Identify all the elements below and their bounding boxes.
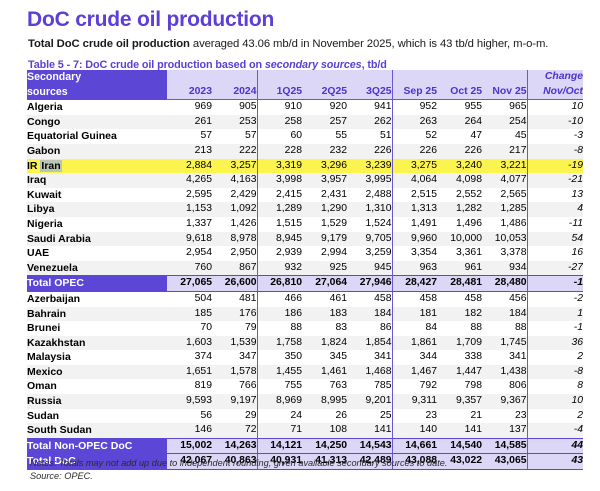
cell-value: 3,296 bbox=[302, 159, 347, 174]
cell-change: 1 bbox=[527, 307, 583, 322]
header-col-sep25: Sep 25 bbox=[392, 85, 437, 100]
cell-value: 45 bbox=[482, 129, 527, 144]
cell-value: 9,593 bbox=[167, 394, 212, 409]
table-header: Secondary sources Change 2023 2024 1Q25 … bbox=[27, 70, 583, 100]
cell-value: 226 bbox=[347, 144, 392, 159]
cell-value: 55 bbox=[302, 129, 347, 144]
cell-value: 1,285 bbox=[482, 202, 527, 217]
row-label: Nigeria bbox=[27, 217, 167, 232]
header-col-2023: 2023 bbox=[167, 85, 212, 100]
cell-value: 88 bbox=[482, 321, 527, 336]
header-col-3q25: 3Q25 bbox=[347, 85, 392, 100]
cell-value: 2,954 bbox=[167, 246, 212, 261]
cell-value: 184 bbox=[482, 307, 527, 322]
cell-value: 3,378 bbox=[482, 246, 527, 261]
cell-change: -11 bbox=[527, 217, 583, 232]
cell-value: 1,289 bbox=[257, 202, 302, 217]
cell-value: 57 bbox=[167, 129, 212, 144]
row-label: Saudi Arabia bbox=[27, 232, 167, 247]
cell-value: 1,515 bbox=[257, 217, 302, 232]
header-col-nov25: Nov 25 bbox=[482, 85, 527, 100]
cell-change: -8 bbox=[527, 144, 583, 159]
cell-value: 8,945 bbox=[257, 232, 302, 247]
cell-value: 264 bbox=[437, 115, 482, 130]
cell-value: 52 bbox=[392, 129, 437, 144]
cell-value: 83 bbox=[302, 321, 347, 336]
summary-text: Total DoC crude oil production averaged … bbox=[28, 38, 548, 50]
cell-value: 819 bbox=[167, 379, 212, 394]
cell-value: 504 bbox=[167, 291, 212, 306]
cell-value: 262 bbox=[347, 115, 392, 130]
cell-value: 3,995 bbox=[347, 173, 392, 188]
cell-change: 43 bbox=[527, 454, 583, 470]
cell-value: 456 bbox=[482, 291, 527, 306]
cell-value: 347 bbox=[212, 350, 257, 365]
cell-value: 137 bbox=[482, 423, 527, 438]
cell-value: 3,257 bbox=[212, 159, 257, 174]
cell-value: 71 bbox=[257, 423, 302, 438]
cell-value: 9,179 bbox=[302, 232, 347, 247]
row-label: UAE bbox=[27, 246, 167, 261]
cell-value: 792 bbox=[392, 379, 437, 394]
cell-value: 183 bbox=[302, 307, 347, 322]
cell-value: 2,994 bbox=[302, 246, 347, 261]
doc-production-table: Secondary sources Change 2023 2024 1Q25 … bbox=[27, 70, 583, 470]
cell-value: 1,491 bbox=[392, 217, 437, 232]
cell-value: 24 bbox=[257, 409, 302, 424]
cell-value: 14,585 bbox=[482, 438, 527, 454]
cell-value: 21 bbox=[437, 409, 482, 424]
table-row: Sudan56292426252321232 bbox=[27, 409, 583, 424]
cell-change: 8 bbox=[527, 379, 583, 394]
page-title: DoC crude oil production bbox=[27, 8, 274, 32]
cell-value: 141 bbox=[437, 423, 482, 438]
header-blank-2024 bbox=[212, 70, 257, 85]
cell-value: 1,313 bbox=[392, 202, 437, 217]
cell-value: 14,250 bbox=[302, 438, 347, 454]
cell-value: 481 bbox=[212, 291, 257, 306]
cell-value: 1,824 bbox=[302, 336, 347, 351]
row-label: Brunei bbox=[27, 321, 167, 336]
table-body: Algeria96990591092094195295596510Congo26… bbox=[27, 100, 583, 470]
cell-value: 8,969 bbox=[257, 394, 302, 409]
cell-value: 969 bbox=[167, 100, 212, 115]
row-label: Azerbaijan bbox=[27, 291, 167, 306]
cell-change: 13 bbox=[527, 188, 583, 203]
cell-value: 1,578 bbox=[212, 365, 257, 380]
table-row: Equatorial Guinea5757605551524745-3 bbox=[27, 129, 583, 144]
cell-value: 263 bbox=[392, 115, 437, 130]
cell-value: 4,064 bbox=[392, 173, 437, 188]
row-label: Kazakhstan bbox=[27, 336, 167, 351]
row-label: Bahrain bbox=[27, 307, 167, 322]
cell-value: 70 bbox=[167, 321, 212, 336]
cell-value: 2,595 bbox=[167, 188, 212, 203]
cell-value: 9,960 bbox=[392, 232, 437, 247]
cell-value: 3,240 bbox=[437, 159, 482, 174]
header-blank-sep25 bbox=[392, 70, 437, 85]
cell-change: -21 bbox=[527, 173, 583, 188]
cell-value: 920 bbox=[302, 100, 347, 115]
cell-value: 932 bbox=[257, 261, 302, 276]
cell-value: 185 bbox=[167, 307, 212, 322]
cell-value: 1,758 bbox=[257, 336, 302, 351]
cell-value: 3,354 bbox=[392, 246, 437, 261]
table-source: Source: OPEC. bbox=[30, 471, 93, 481]
summary-bold: Total DoC crude oil production bbox=[28, 38, 190, 50]
cell-value: 232 bbox=[302, 144, 347, 159]
cell-value: 1,455 bbox=[257, 365, 302, 380]
cell-value: 8,978 bbox=[212, 232, 257, 247]
cell-value: 934 bbox=[482, 261, 527, 276]
cell-change: 44 bbox=[527, 438, 583, 454]
cell-value: 9,201 bbox=[347, 394, 392, 409]
cell-value: 2,884 bbox=[167, 159, 212, 174]
cell-change: -2 bbox=[527, 291, 583, 306]
header-secondary-sources: Secondary sources bbox=[27, 70, 167, 100]
cell-value: 925 bbox=[302, 261, 347, 276]
cell-value: 963 bbox=[392, 261, 437, 276]
cell-value: 27,065 bbox=[167, 276, 212, 292]
row-label: Kuwait bbox=[27, 188, 167, 203]
cell-value: 51 bbox=[347, 129, 392, 144]
cell-value: 2,565 bbox=[482, 188, 527, 203]
cell-value: 1,709 bbox=[437, 336, 482, 351]
cell-value: 3,259 bbox=[347, 246, 392, 261]
cell-value: 458 bbox=[347, 291, 392, 306]
report-page: DoC crude oil production Total DoC crude… bbox=[0, 0, 600, 491]
cell-value: 4,077 bbox=[482, 173, 527, 188]
cell-value: 14,121 bbox=[257, 438, 302, 454]
cell-value: 14,543 bbox=[347, 438, 392, 454]
cell-change: 2 bbox=[527, 409, 583, 424]
cell-value: 253 bbox=[212, 115, 257, 130]
cell-value: 84 bbox=[392, 321, 437, 336]
header-col-2q25: 2Q25 bbox=[302, 85, 347, 100]
cell-change: -4 bbox=[527, 423, 583, 438]
cell-value: 867 bbox=[212, 261, 257, 276]
cell-value: 29 bbox=[212, 409, 257, 424]
cell-value: 941 bbox=[347, 100, 392, 115]
table-row: Algeria96990591092094195295596510 bbox=[27, 100, 583, 115]
cell-value: 27,946 bbox=[347, 276, 392, 292]
header-col-2024: 2024 bbox=[212, 85, 257, 100]
cell-value: 4,098 bbox=[437, 173, 482, 188]
cell-value: 186 bbox=[257, 307, 302, 322]
cell-value: 146 bbox=[167, 423, 212, 438]
cell-value: 23 bbox=[392, 409, 437, 424]
cell-value: 2,950 bbox=[212, 246, 257, 261]
cell-value: 88 bbox=[257, 321, 302, 336]
cell-value: 798 bbox=[437, 379, 482, 394]
cell-value: 10,053 bbox=[482, 232, 527, 247]
cell-value: 1,467 bbox=[392, 365, 437, 380]
cell-value: 910 bbox=[257, 100, 302, 115]
table-total-row: Total Non-OPEC DoC15,00214,26314,12114,2… bbox=[27, 438, 583, 454]
cell-value: 226 bbox=[437, 144, 482, 159]
cell-value: 806 bbox=[482, 379, 527, 394]
cell-value: 1,854 bbox=[347, 336, 392, 351]
row-label-prefix: IR bbox=[27, 160, 40, 172]
table-row: Congo261253258257262263264254-10 bbox=[27, 115, 583, 130]
cell-value: 213 bbox=[167, 144, 212, 159]
cell-value: 47 bbox=[437, 129, 482, 144]
cell-value: 9,197 bbox=[212, 394, 257, 409]
cell-value: 344 bbox=[392, 350, 437, 365]
row-label: Libya bbox=[27, 202, 167, 217]
cell-value: 3,239 bbox=[347, 159, 392, 174]
cell-value: 3,275 bbox=[392, 159, 437, 174]
row-label: Algeria bbox=[27, 100, 167, 115]
cell-value: 3,998 bbox=[257, 173, 302, 188]
cell-value: 88 bbox=[437, 321, 482, 336]
cell-value: 1,153 bbox=[167, 202, 212, 217]
cell-value: 10,000 bbox=[437, 232, 482, 247]
cell-change: -1 bbox=[527, 276, 583, 292]
row-label: IR Iran bbox=[27, 159, 167, 174]
cell-value: 182 bbox=[437, 307, 482, 322]
cell-value: 458 bbox=[392, 291, 437, 306]
row-label-selection: Iran bbox=[40, 160, 61, 172]
cell-value: 3,361 bbox=[437, 246, 482, 261]
cell-change: -19 bbox=[527, 159, 583, 174]
cell-value: 905 bbox=[212, 100, 257, 115]
cell-value: 350 bbox=[257, 350, 302, 365]
cell-value: 374 bbox=[167, 350, 212, 365]
row-label: Venezuela bbox=[27, 261, 167, 276]
table-row: Oman8197667557637857927988068 bbox=[27, 379, 583, 394]
cell-value: 458 bbox=[437, 291, 482, 306]
header-label-line1: Secondary bbox=[27, 70, 167, 85]
cell-value: 1,496 bbox=[437, 217, 482, 232]
cell-value: 176 bbox=[212, 307, 257, 322]
row-label: Total OPEC bbox=[27, 276, 167, 292]
summary-rest: averaged 43.06 mb/d in November 2025, wh… bbox=[190, 38, 548, 50]
cell-value: 466 bbox=[257, 291, 302, 306]
row-label: Equatorial Guinea bbox=[27, 129, 167, 144]
cell-change: 36 bbox=[527, 336, 583, 351]
row-label: Sudan bbox=[27, 409, 167, 424]
header-change-line1: Change bbox=[527, 70, 583, 85]
cell-change: -8 bbox=[527, 365, 583, 380]
table-row: Azerbaijan504481466461458458458456-2 bbox=[27, 291, 583, 306]
cell-value: 955 bbox=[437, 100, 482, 115]
table-row: Malaysia3743473503453413443383412 bbox=[27, 350, 583, 365]
table-row: Mexico1,6511,5781,4551,4611,4681,4671,44… bbox=[27, 365, 583, 380]
cell-value: 345 bbox=[302, 350, 347, 365]
cell-change: 10 bbox=[527, 100, 583, 115]
cell-value: 27,064 bbox=[302, 276, 347, 292]
cell-value: 86 bbox=[347, 321, 392, 336]
cell-value: 1,651 bbox=[167, 365, 212, 380]
cell-value: 952 bbox=[392, 100, 437, 115]
table-row: Brunei7079888386848888-1 bbox=[27, 321, 583, 336]
cell-value: 1,310 bbox=[347, 202, 392, 217]
cell-value: 14,661 bbox=[392, 438, 437, 454]
table-notes: Notes: Totals may not add up due to inde… bbox=[30, 458, 447, 468]
cell-value: 28,481 bbox=[437, 276, 482, 292]
cell-value: 945 bbox=[347, 261, 392, 276]
cell-value: 1,092 bbox=[212, 202, 257, 217]
cell-value: 60 bbox=[257, 129, 302, 144]
cell-value: 26,600 bbox=[212, 276, 257, 292]
table-row: Iraq4,2654,1633,9983,9573,9954,0644,0984… bbox=[27, 173, 583, 188]
table-total-row: Total OPEC27,06526,60026,81027,06427,946… bbox=[27, 276, 583, 292]
cell-value: 3,221 bbox=[482, 159, 527, 174]
cell-value: 228 bbox=[257, 144, 302, 159]
header-blank-3q25 bbox=[347, 70, 392, 85]
cell-value: 57 bbox=[212, 129, 257, 144]
table-row: Libya1,1531,0921,2891,2901,3101,3131,282… bbox=[27, 202, 583, 217]
row-label: Iraq bbox=[27, 173, 167, 188]
cell-value: 9,311 bbox=[392, 394, 437, 409]
cell-value: 1,447 bbox=[437, 365, 482, 380]
cell-value: 760 bbox=[167, 261, 212, 276]
cell-value: 254 bbox=[482, 115, 527, 130]
cell-value: 222 bbox=[212, 144, 257, 159]
cell-value: 108 bbox=[302, 423, 347, 438]
cell-value: 2,515 bbox=[392, 188, 437, 203]
cell-value: 2,431 bbox=[302, 188, 347, 203]
header-col-oct25: Oct 25 bbox=[437, 85, 482, 100]
cell-value: 1,524 bbox=[347, 217, 392, 232]
cell-value: 763 bbox=[302, 379, 347, 394]
cell-change: -27 bbox=[527, 261, 583, 276]
cell-value: 1,745 bbox=[482, 336, 527, 351]
cell-value: 258 bbox=[257, 115, 302, 130]
row-label: Oman bbox=[27, 379, 167, 394]
cell-value: 2,488 bbox=[347, 188, 392, 203]
cell-value: 261 bbox=[167, 115, 212, 130]
cell-value: 785 bbox=[347, 379, 392, 394]
cell-value: 1,539 bbox=[212, 336, 257, 351]
table-row: IR Iran2,8843,2573,3193,2963,2393,2753,2… bbox=[27, 159, 583, 174]
cell-value: 4,265 bbox=[167, 173, 212, 188]
cell-value: 140 bbox=[392, 423, 437, 438]
cell-value: 1,468 bbox=[347, 365, 392, 380]
header-blank-2023 bbox=[167, 70, 212, 85]
cell-value: 56 bbox=[167, 409, 212, 424]
cell-change: 10 bbox=[527, 394, 583, 409]
cell-change: 16 bbox=[527, 246, 583, 261]
table-row: Venezuela760867932925945963961934-27 bbox=[27, 261, 583, 276]
cell-value: 184 bbox=[347, 307, 392, 322]
row-label: Russia bbox=[27, 394, 167, 409]
cell-value: 23 bbox=[482, 409, 527, 424]
cell-value: 9,705 bbox=[347, 232, 392, 247]
cell-value: 3,319 bbox=[257, 159, 302, 174]
cell-value: 2,552 bbox=[437, 188, 482, 203]
cell-value: 341 bbox=[482, 350, 527, 365]
cell-change: 54 bbox=[527, 232, 583, 247]
cell-value: 14,540 bbox=[437, 438, 482, 454]
cell-value: 1,861 bbox=[392, 336, 437, 351]
cell-value: 72 bbox=[212, 423, 257, 438]
table-row: Nigeria1,3371,4261,5151,5291,5241,4911,4… bbox=[27, 217, 583, 232]
cell-value: 755 bbox=[257, 379, 302, 394]
cell-value: 28,427 bbox=[392, 276, 437, 292]
cell-value: 1,461 bbox=[302, 365, 347, 380]
table-row: UAE2,9542,9502,9392,9943,2593,3543,3613,… bbox=[27, 246, 583, 261]
row-label: Congo bbox=[27, 115, 167, 130]
cell-value: 461 bbox=[302, 291, 347, 306]
cell-value: 2,415 bbox=[257, 188, 302, 203]
header-blank-1q25 bbox=[257, 70, 302, 85]
cell-value: 965 bbox=[482, 100, 527, 115]
cell-value: 141 bbox=[347, 423, 392, 438]
cell-value: 257 bbox=[302, 115, 347, 130]
cell-value: 1,486 bbox=[482, 217, 527, 232]
header-blank-nov25 bbox=[482, 70, 527, 85]
header-label-line2: sources bbox=[27, 85, 167, 100]
cell-value: 217 bbox=[482, 144, 527, 159]
cell-value: 9,357 bbox=[437, 394, 482, 409]
cell-value: 1,337 bbox=[167, 217, 212, 232]
cell-value: 14,263 bbox=[212, 438, 257, 454]
cell-value: 1,282 bbox=[437, 202, 482, 217]
cell-value: 2,429 bbox=[212, 188, 257, 203]
table-row: Kuwait2,5952,4292,4152,4312,4882,5152,55… bbox=[27, 188, 583, 203]
cell-value: 4,163 bbox=[212, 173, 257, 188]
cell-value: 226 bbox=[392, 144, 437, 159]
table-row: Bahrain1851761861831841811821841 bbox=[27, 307, 583, 322]
table-row: Gabon213222228232226226226217-8 bbox=[27, 144, 583, 159]
cell-value: 26,810 bbox=[257, 276, 302, 292]
table-row: South Sudan1467271108141140141137-4 bbox=[27, 423, 583, 438]
cell-value: 338 bbox=[437, 350, 482, 365]
row-label: Gabon bbox=[27, 144, 167, 159]
header-change-line2: Nov/Oct bbox=[527, 85, 583, 100]
table-row: Russia9,5939,1978,9698,9959,2019,3119,35… bbox=[27, 394, 583, 409]
cell-value: 43,065 bbox=[482, 454, 527, 470]
cell-value: 181 bbox=[392, 307, 437, 322]
cell-value: 341 bbox=[347, 350, 392, 365]
cell-value: 25 bbox=[347, 409, 392, 424]
cell-value: 3,957 bbox=[302, 173, 347, 188]
cell-value: 1,426 bbox=[212, 217, 257, 232]
cell-value: 15,002 bbox=[167, 438, 212, 454]
cell-change: 2 bbox=[527, 350, 583, 365]
cell-change: -3 bbox=[527, 129, 583, 144]
cell-value: 766 bbox=[212, 379, 257, 394]
cell-value: 28,480 bbox=[482, 276, 527, 292]
cell-change: -1 bbox=[527, 321, 583, 336]
table-row: Kazakhstan1,6031,5391,7581,8241,8541,861… bbox=[27, 336, 583, 351]
cell-value: 9,367 bbox=[482, 394, 527, 409]
cell-value: 961 bbox=[437, 261, 482, 276]
cell-value: 8,995 bbox=[302, 394, 347, 409]
header-blank-2q25 bbox=[302, 70, 347, 85]
cell-value: 1,438 bbox=[482, 365, 527, 380]
row-label: Mexico bbox=[27, 365, 167, 380]
cell-change: 4 bbox=[527, 202, 583, 217]
row-label: South Sudan bbox=[27, 423, 167, 438]
table-row: Saudi Arabia9,6188,9788,9459,1799,7059,9… bbox=[27, 232, 583, 247]
cell-value: 1,603 bbox=[167, 336, 212, 351]
row-label: Malaysia bbox=[27, 350, 167, 365]
header-row-1: Secondary sources Change bbox=[27, 70, 583, 85]
header-col-1q25: 1Q25 bbox=[257, 85, 302, 100]
header-blank-oct25 bbox=[437, 70, 482, 85]
cell-value: 79 bbox=[212, 321, 257, 336]
cell-change: -10 bbox=[527, 115, 583, 130]
cell-value: 1,529 bbox=[302, 217, 347, 232]
cell-value: 2,939 bbox=[257, 246, 302, 261]
cell-value: 9,618 bbox=[167, 232, 212, 247]
cell-value: 26 bbox=[302, 409, 347, 424]
row-label: Total Non-OPEC DoC bbox=[27, 438, 167, 454]
cell-value: 1,290 bbox=[302, 202, 347, 217]
